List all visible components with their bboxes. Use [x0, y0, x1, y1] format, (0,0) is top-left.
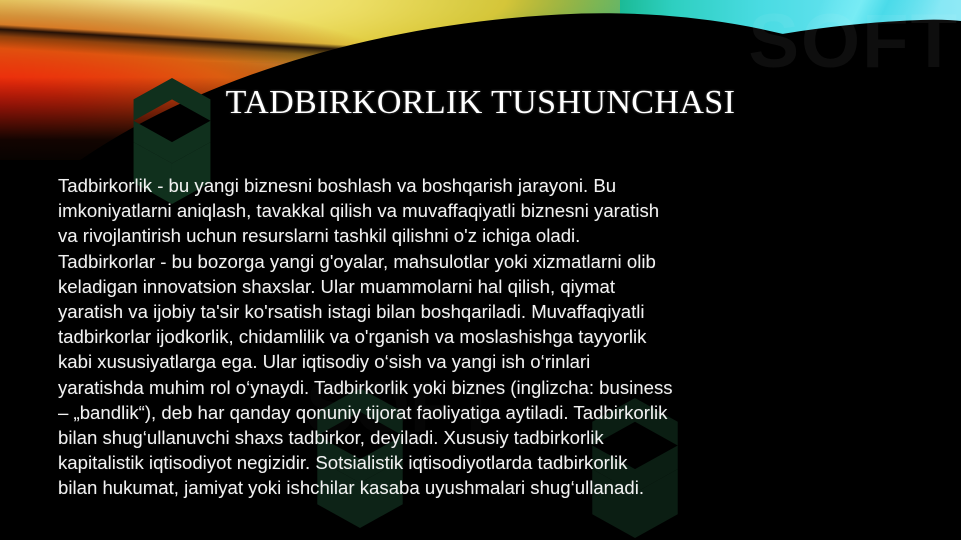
- presentation-slide: SOFT SOFT: [0, 0, 961, 540]
- body-line: imkoniyatlarni aniqlash, tavakkal qilish…: [58, 198, 938, 223]
- body-line: yaratish va ijobiy ta'sir ko'rsatish ist…: [58, 299, 938, 324]
- yellow-highlight-glow: [0, 0, 620, 62]
- fade-to-black-veil: [0, 0, 961, 160]
- rainbow-swoosh-banner: [0, 0, 961, 160]
- body-line: keladigan innovatsion shaxslar. Ular mua…: [58, 274, 938, 299]
- rainbow-gradient-band: [0, 0, 961, 146]
- body-line: yaratishda muhim rol o‘ynaydi. Tadbirkor…: [58, 375, 938, 400]
- teal-streak: [691, 0, 961, 68]
- slide-title: TADBIRKORLIK TUSHUNCHASI: [0, 84, 961, 122]
- body-line: bilan hukumat, jamiyat yoki ishchilar ka…: [58, 475, 938, 500]
- body-line: – „bandlik“), deb har qanday qonuniy tij…: [58, 400, 938, 425]
- black-curve-primary: [0, 0, 961, 160]
- watermark-text-right: SOFT: [748, 4, 959, 80]
- body-line: Tadbirkorlik - bu yangi biznesni boshlas…: [58, 173, 938, 198]
- body-line: Tadbirkorlar - bu bozorga yangi g'oyalar…: [58, 249, 938, 274]
- body-line: tadbirkorlar ijodkorlik, chidamlilik va …: [58, 324, 938, 349]
- body-line: bilan shug‘ullanuvchi shaxs tadbirkor, d…: [58, 425, 938, 450]
- red-orange-glow: [0, 0, 520, 160]
- body-line: kapitalistik iqtisodiyot negizidir. Sots…: [58, 450, 938, 475]
- body-line: va rivojlantirish uchun resurslarni tash…: [58, 223, 938, 248]
- slide-body-text: Tadbirkorlik - bu yangi biznesni boshlas…: [58, 173, 938, 501]
- body-line: kabi xususiyatlarga ega. Ular iqtisodiy …: [58, 349, 938, 374]
